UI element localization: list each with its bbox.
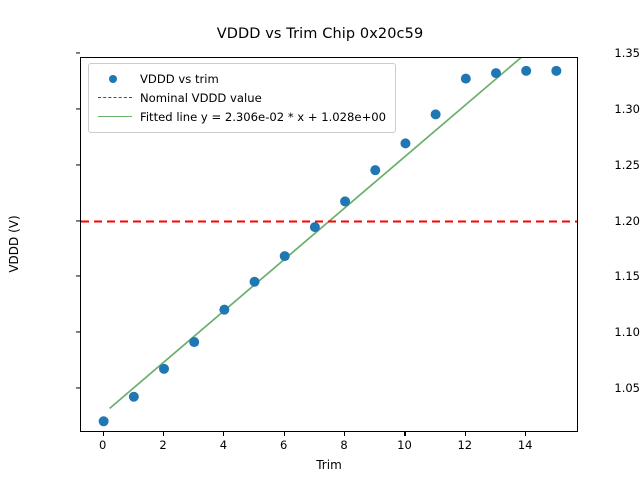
data-point xyxy=(431,109,441,119)
data-point xyxy=(189,337,199,347)
x-tick-label: 10 xyxy=(384,438,424,452)
data-point xyxy=(250,277,260,287)
x-tick-label: 2 xyxy=(143,438,183,452)
y-tick-label: 1.10 xyxy=(594,325,640,339)
x-tick-mark xyxy=(344,432,345,436)
y-tick-label: 1.25 xyxy=(594,158,640,172)
x-tick-label: 4 xyxy=(203,438,243,452)
y-axis-label: VDDD (V) xyxy=(7,144,21,344)
y-tick-label: 1.35 xyxy=(594,46,640,60)
dashed-line-icon xyxy=(98,91,132,105)
legend-entry-vddd-vs-trim: VDDD vs trim xyxy=(98,69,386,88)
data-point xyxy=(159,364,169,374)
data-point xyxy=(280,251,290,261)
x-axis-label: Trim xyxy=(80,458,578,472)
x-tick-label: 6 xyxy=(264,438,304,452)
chart-figure: VDDD vs Trim Chip 0x20c59 VDDD (V) Trim … xyxy=(0,0,640,480)
x-tick-label: 0 xyxy=(83,438,123,452)
data-point xyxy=(521,66,531,76)
data-point xyxy=(340,196,350,206)
data-point xyxy=(99,416,109,426)
x-tick-mark xyxy=(404,432,405,436)
chart-title: VDDD vs Trim Chip 0x20c59 xyxy=(0,26,640,42)
legend-label-nominal-vddd: Nominal VDDD value xyxy=(140,91,262,105)
data-point xyxy=(310,222,320,232)
x-tick-mark xyxy=(465,432,466,436)
x-tick-label: 8 xyxy=(324,438,364,452)
data-point xyxy=(219,305,229,315)
y-tick-label: 1.05 xyxy=(594,381,640,395)
y-axis-label-container: VDDD (V) xyxy=(0,0,28,480)
x-tick-mark xyxy=(103,432,104,436)
legend-label-vddd-vs-trim: VDDD vs trim xyxy=(140,72,219,86)
data-point xyxy=(400,138,410,148)
x-tick-mark xyxy=(163,432,164,436)
x-tick-mark xyxy=(284,432,285,436)
data-point xyxy=(461,74,471,84)
data-point xyxy=(129,392,139,402)
y-tick-label: 1.30 xyxy=(594,102,640,116)
chart-legend: VDDD vs trim Nominal VDDD value Fitted l… xyxy=(88,63,396,133)
x-tick-label: 12 xyxy=(445,438,485,452)
x-tick-mark xyxy=(223,432,224,436)
y-tick-mark xyxy=(76,53,80,54)
y-tick-label: 1.15 xyxy=(594,269,640,283)
legend-entry-fitted-line: Fitted line y = 2.306e-02 * x + 1.028e+0… xyxy=(98,107,386,126)
y-tick-label: 1.20 xyxy=(594,214,640,228)
legend-entry-nominal-vddd: Nominal VDDD value xyxy=(98,88,386,107)
dot-marker-icon xyxy=(98,72,132,86)
x-tick-label: 14 xyxy=(505,438,545,452)
data-point xyxy=(491,68,501,78)
solid-line-icon xyxy=(98,110,132,124)
x-tick-mark xyxy=(525,432,526,436)
data-point xyxy=(551,66,561,76)
data-point xyxy=(370,165,380,175)
legend-label-fitted-line: Fitted line y = 2.306e-02 * x + 1.028e+0… xyxy=(140,110,386,124)
